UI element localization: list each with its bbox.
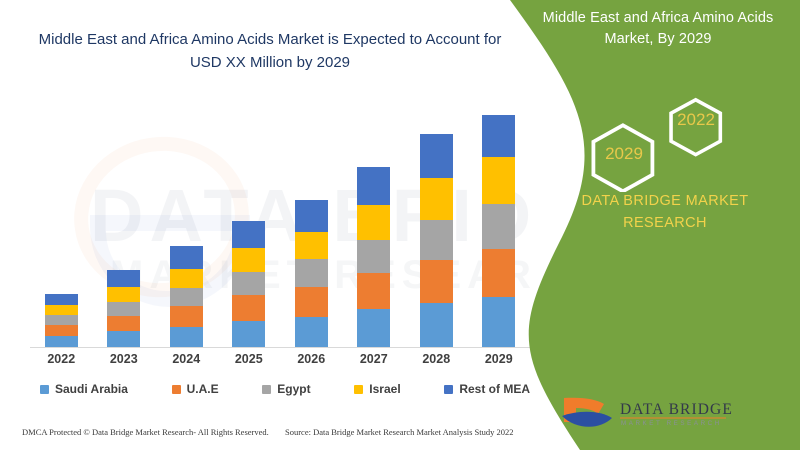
x-axis-label: 2023 (93, 352, 156, 366)
bar-segment[interactable] (45, 336, 78, 347)
x-axis-label: 2026 (280, 352, 343, 366)
legend-item[interactable]: Egypt (262, 382, 310, 396)
bar-segment[interactable] (232, 321, 265, 347)
bar-slot (155, 95, 218, 347)
bar-segment[interactable] (45, 294, 78, 305)
legend-label: U.A.E (187, 382, 219, 396)
bar-segment[interactable] (170, 327, 203, 347)
hexagon-badges: 2029 2022 (570, 92, 770, 192)
bar-slot (280, 95, 343, 347)
legend-swatch (172, 385, 181, 394)
bar-segment[interactable] (232, 248, 265, 272)
footer: DMCA Protected © Data Bridge Market Rese… (0, 424, 560, 446)
bar-segment[interactable] (232, 295, 265, 321)
legend-label: Egypt (277, 382, 310, 396)
bar-segment[interactable] (295, 317, 328, 347)
legend-item[interactable]: Saudi Arabia (40, 382, 128, 396)
stacked-bar-group (30, 95, 530, 347)
bar-segment[interactable] (45, 325, 78, 336)
legend-swatch (40, 385, 49, 394)
stacked-bar[interactable] (45, 294, 78, 347)
legend-swatch (444, 385, 453, 394)
bar-segment[interactable] (232, 221, 265, 248)
bar-segment[interactable] (107, 287, 140, 302)
brand-panel-title: Middle East and Africa Amino Acids Marke… (534, 8, 782, 50)
bar-segment[interactable] (232, 272, 265, 295)
footer-source: Source: Data Bridge Market Research Mark… (285, 427, 514, 437)
bar-segment[interactable] (107, 302, 140, 316)
x-axis-label: 2028 (405, 352, 468, 366)
bar-segment[interactable] (107, 316, 140, 331)
x-axis-label: 2027 (343, 352, 406, 366)
bar-slot (405, 95, 468, 347)
stacked-bar[interactable] (357, 167, 390, 347)
bar-segment[interactable] (420, 303, 453, 347)
infographic-root: DATA BRIDGE MARKET RESEARCH Middle East … (0, 0, 800, 450)
logo-tagline: MARKET RESEARCH (621, 420, 722, 427)
data-bridge-logo: DATA BRIDGE MARKET RESEARCH (560, 392, 740, 436)
hexagon-2029-label: 2029 (605, 144, 643, 163)
bar-segment[interactable] (357, 273, 390, 309)
footer-copyright: DMCA Protected © Data Bridge Market Rese… (22, 427, 269, 437)
bar-segment[interactable] (107, 270, 140, 287)
stacked-bar[interactable] (420, 134, 453, 347)
bar-segment[interactable] (357, 240, 390, 273)
chart-plot-area (30, 95, 530, 348)
stacked-bar[interactable] (232, 221, 265, 347)
brand-panel-name: DATA BRIDGE MARKET RESEARCH (540, 190, 790, 235)
stacked-bar[interactable] (295, 200, 328, 347)
x-axis-label: 2022 (30, 352, 93, 366)
bar-segment[interactable] (295, 287, 328, 317)
legend-item[interactable]: Israel (354, 382, 400, 396)
bar-slot (30, 95, 93, 347)
bar-slot (93, 95, 156, 347)
bar-slot (218, 95, 281, 347)
bar-slot (343, 95, 406, 347)
legend-swatch (354, 385, 363, 394)
bar-segment[interactable] (420, 178, 453, 220)
bar-segment[interactable] (420, 134, 453, 178)
bar-segment[interactable] (420, 220, 453, 260)
bar-segment[interactable] (295, 232, 328, 259)
bar-segment[interactable] (295, 259, 328, 287)
bar-segment[interactable] (107, 331, 140, 347)
legend-swatch (262, 385, 271, 394)
bar-segment[interactable] (295, 200, 328, 232)
legend-item[interactable]: U.A.E (172, 382, 219, 396)
hexagon-2022-label: 2022 (677, 110, 715, 129)
bar-segment[interactable] (357, 205, 390, 240)
chart-legend: Saudi ArabiaU.A.EEgyptIsraelRest of MEA (40, 382, 530, 396)
stacked-bar[interactable] (170, 246, 203, 347)
bar-segment[interactable] (170, 269, 203, 288)
bar-segment[interactable] (357, 309, 390, 347)
x-axis-line (30, 347, 530, 348)
x-axis-label: 2024 (155, 352, 218, 366)
bar-segment[interactable] (357, 167, 390, 205)
logo-mark-blue (562, 412, 612, 427)
x-axis-label: 2025 (218, 352, 281, 366)
legend-label: Saudi Arabia (55, 382, 128, 396)
stacked-bar[interactable] (107, 270, 140, 347)
bar-segment[interactable] (170, 306, 203, 327)
bar-segment[interactable] (45, 315, 78, 325)
logo-name: DATA BRIDGE (620, 401, 733, 418)
legend-label: Israel (369, 382, 400, 396)
bar-segment[interactable] (420, 260, 453, 303)
bar-segment[interactable] (170, 288, 203, 306)
brand-panel: Middle East and Africa Amino Acids Marke… (510, 0, 800, 450)
chart-title: Middle East and Africa Amino Acids Marke… (30, 28, 510, 75)
bar-segment[interactable] (170, 246, 203, 269)
x-axis-labels: 20222023202420252026202720282029 (30, 352, 530, 366)
bar-segment[interactable] (45, 305, 78, 315)
